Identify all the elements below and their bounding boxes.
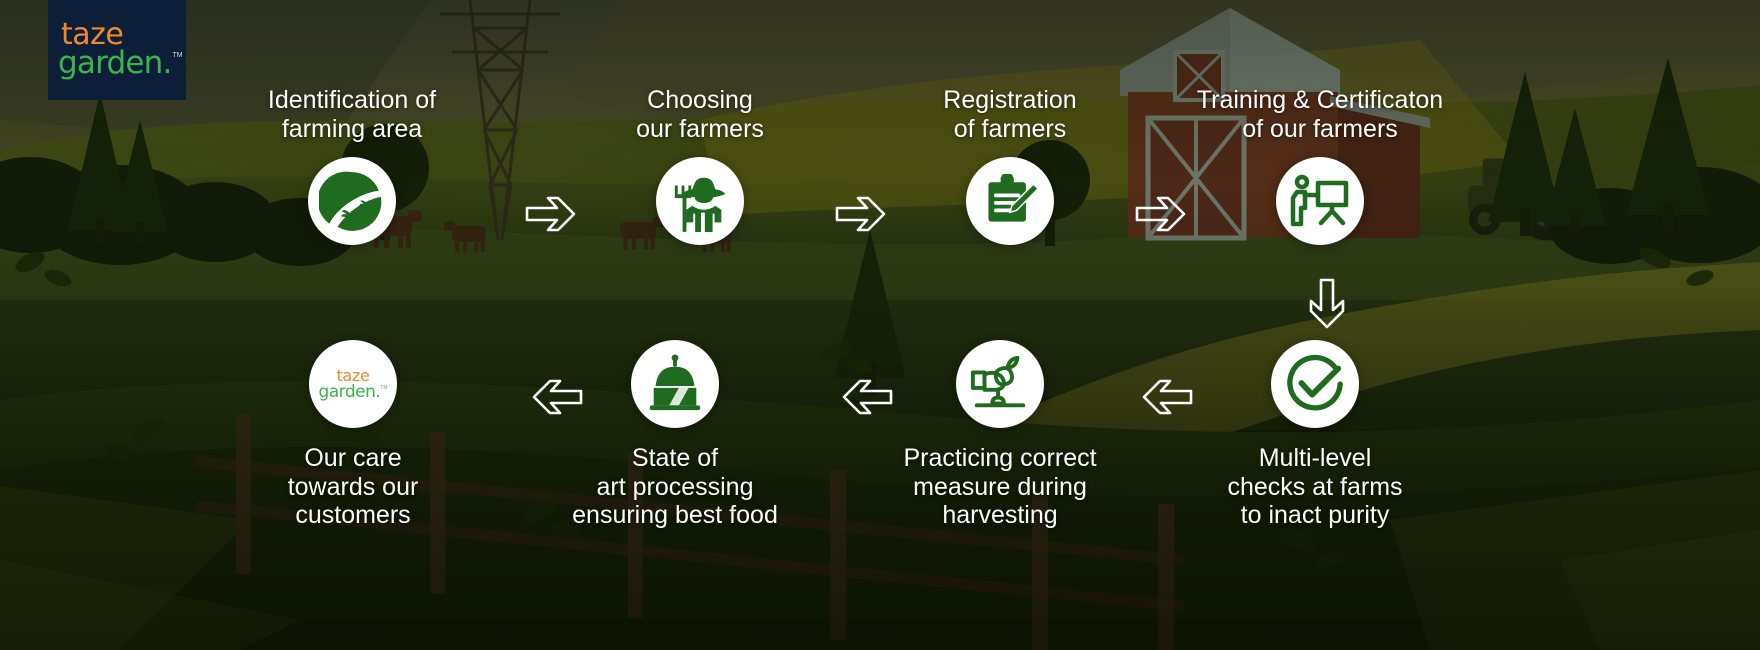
mini-logo-tm: TM	[380, 385, 387, 391]
arrow-down	[1308, 278, 1346, 336]
arrow-bottom-3	[525, 378, 583, 416]
step-multi-level-checks[interactable]: Multi-level checks at farms to inact pur…	[1190, 340, 1440, 530]
arrow-top-1	[525, 195, 583, 233]
step-identification-label: Identification of farming area	[268, 86, 436, 143]
brand-logo-garden: garden.	[58, 48, 172, 79]
step-processing-label: State of art processing ensuring best fo…	[572, 444, 778, 530]
step-our-care-label: Our care towards our customers	[288, 444, 419, 530]
brand-logo-tm: TM	[173, 52, 183, 59]
step-processing[interactable]: State of art processing ensuring best fo…	[555, 340, 795, 530]
harvest-hand-icon[interactable]	[956, 340, 1044, 428]
arrow-top-2	[835, 195, 893, 233]
taze-garden-logo-icon[interactable]: taze garden. TM	[309, 340, 397, 428]
step-harvesting-label: Practicing correct measure during harves…	[903, 444, 1096, 530]
step-choosing-farmers-label: Choosing our farmers	[636, 86, 764, 143]
step-choosing-farmers[interactable]: Choosing our farmers	[590, 86, 810, 245]
arrow-top-3	[1135, 195, 1193, 233]
step-registration-label: Registration of farmers	[943, 86, 1076, 143]
arrow-bottom-2	[835, 378, 893, 416]
arrow-bottom-1	[1135, 378, 1193, 416]
brand-logo-taze: taze	[61, 21, 123, 49]
step-training-label: Training & Certificaton of our farmers	[1197, 86, 1443, 143]
mini-logo-row: garden. TM	[318, 384, 387, 400]
step-identification[interactable]: Identification of farming area	[242, 86, 462, 245]
step-harvesting[interactable]: Practicing correct measure during harves…	[880, 340, 1120, 530]
infographic-canvas: taze garden. TM Identification of farmin…	[0, 0, 1760, 650]
mini-logo-garden: garden.	[318, 384, 380, 400]
step-our-care[interactable]: taze garden. TM Our care towards our cus…	[248, 340, 458, 530]
step-multi-level-checks-label: Multi-level checks at farms to inact pur…	[1227, 444, 1402, 530]
step-training[interactable]: Training & Certificaton of our farmers	[1160, 86, 1480, 245]
brand-logo-garden-wrap: garden. TM	[58, 48, 183, 79]
check-circle-icon[interactable]	[1271, 340, 1359, 428]
training-board-icon[interactable]	[1276, 157, 1364, 245]
process-flow-diagram: Identification of farming area Choosing …	[0, 0, 1760, 650]
processing-plant-icon[interactable]	[631, 340, 719, 428]
brand-logo[interactable]: taze garden. TM	[48, 0, 186, 100]
step-registration[interactable]: Registration of farmers	[900, 86, 1120, 245]
clipboard-pencil-icon[interactable]	[966, 157, 1054, 245]
farmer-icon[interactable]	[656, 157, 744, 245]
farm-field-icon[interactable]	[308, 157, 396, 245]
